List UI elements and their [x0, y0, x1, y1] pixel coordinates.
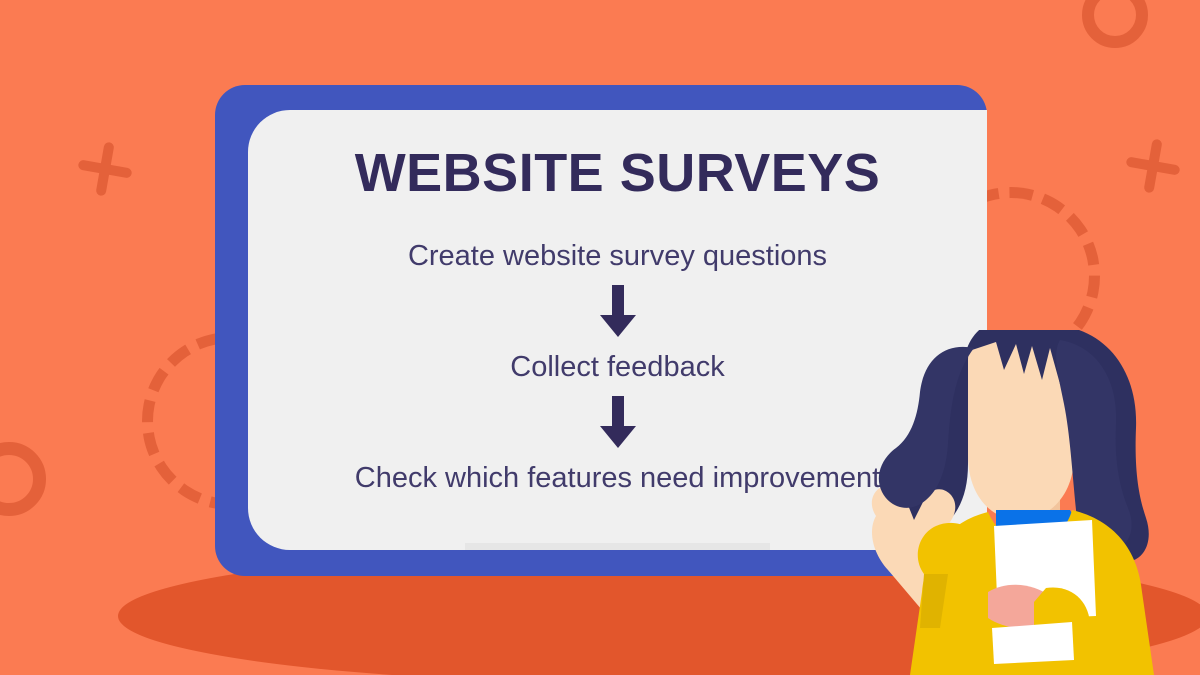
- flow-step-1: Create website survey questions: [408, 242, 827, 271]
- plus-right-icon: [1122, 135, 1185, 198]
- page-title: WEBSITE SURVEYS: [355, 146, 881, 200]
- arrow-down-2-icon: [598, 396, 638, 450]
- presenter-illustration: [828, 330, 1200, 675]
- paper-lower-shape: [992, 622, 1074, 664]
- ring-bottom-left-icon: [0, 442, 46, 516]
- flow-step-3: Check which features need improvement: [355, 464, 880, 493]
- flow-step-2: Collect feedback: [510, 353, 724, 382]
- plus-left-icon: [74, 138, 137, 201]
- slide-canvas: WEBSITE SURVEYS Create website survey qu…: [0, 0, 1200, 675]
- arrow-down-1-icon: [598, 285, 638, 339]
- ring-top-right-icon: [1082, 0, 1148, 48]
